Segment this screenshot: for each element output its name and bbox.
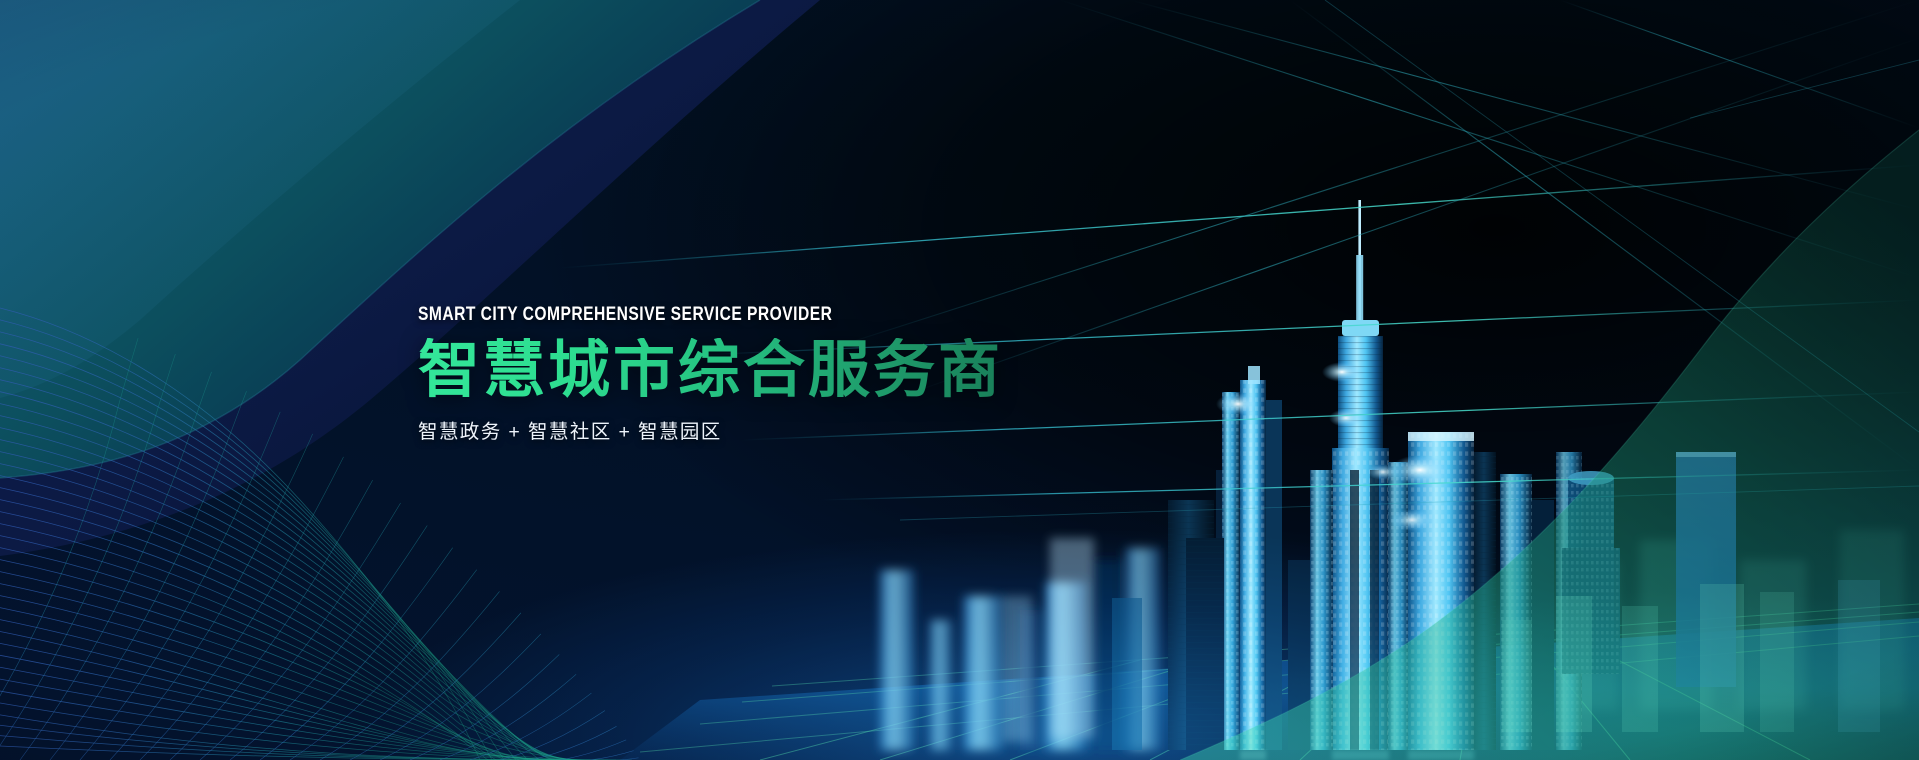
page-title: 智慧城市综合服务商 [418, 338, 1003, 405]
hero-eyebrow-english: SMART CITY COMPREHENSIVE SERVICE PROVIDE… [418, 304, 886, 325]
hero-copy-block: SMART CITY COMPREHENSIVE SERVICE PROVIDE… [418, 304, 1003, 445]
hero-tagline: 智慧政务 + 智慧社区 + 智慧园区 [418, 421, 1003, 444]
smart-city-hero-banner: SMART CITY COMPREHENSIVE SERVICE PROVIDE… [0, 0, 1919, 760]
